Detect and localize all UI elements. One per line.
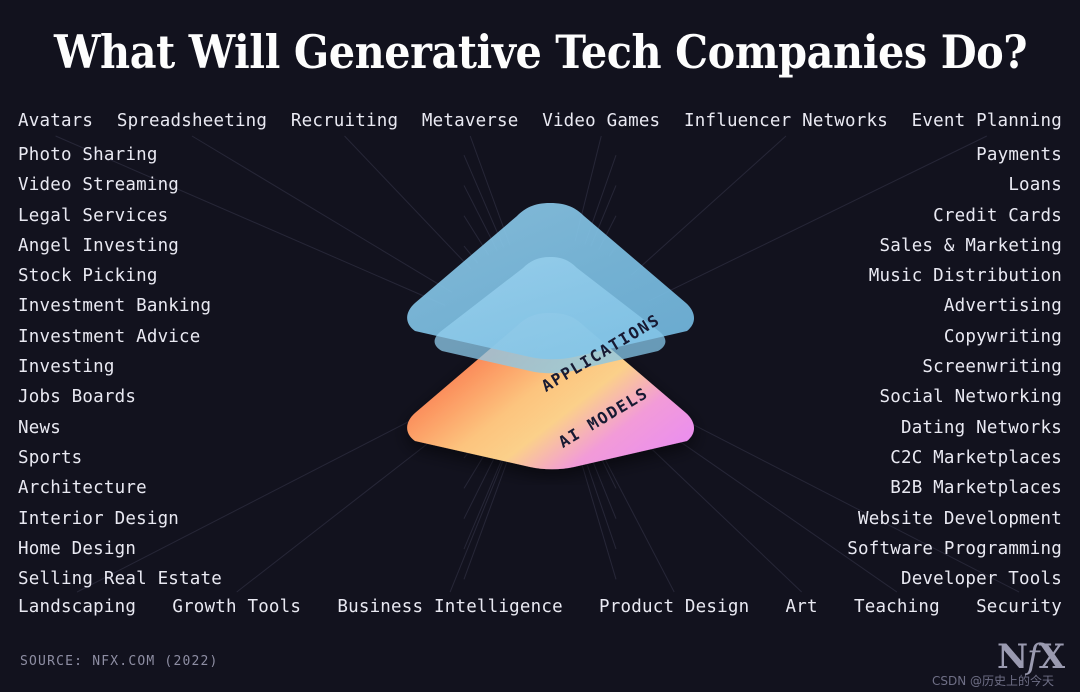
- right-label-0: Payments: [622, 140, 1062, 170]
- top-label-2: Recruiting: [291, 110, 398, 132]
- top-label-4: Video Games: [542, 110, 660, 132]
- bottom-label-row: LandscapingGrowth ToolsBusiness Intellig…: [0, 596, 1080, 618]
- bottom-label-2: Business Intelligence: [337, 596, 562, 618]
- top-label-5: Influencer Networks: [684, 110, 888, 132]
- top-label-6: Event Planning: [912, 110, 1062, 132]
- page-title: What Will Generative Tech Companies Do?: [54, 22, 1026, 82]
- logo-f: f: [1027, 637, 1039, 677]
- infographic-poster: What Will Generative Tech Companies Do? …: [0, 0, 1080, 692]
- isometric-stack-diagram: [360, 185, 740, 485]
- top-label-3: Metaverse: [422, 110, 519, 132]
- left-label-14: Selling Real Estate: [18, 564, 458, 594]
- bottom-label-5: Teaching: [854, 596, 940, 618]
- nfx-logo: NfX: [997, 640, 1064, 674]
- bottom-label-3: Product Design: [599, 596, 749, 618]
- bottom-label-6: Security: [976, 596, 1062, 618]
- top-label-row: AvatarsSpreadsheetingRecruitingMetaverse…: [0, 110, 1080, 132]
- left-label-13: Home Design: [18, 534, 458, 564]
- top-label-0: Avatars: [18, 110, 93, 132]
- right-label-12: Website Development: [622, 504, 1062, 534]
- top-label-1: Spreadsheeting: [117, 110, 267, 132]
- source-credit: SOURCE: NFX.COM (2022): [20, 654, 219, 669]
- left-label-0: Photo Sharing: [18, 140, 458, 170]
- csdn-watermark: CSDN @历史上的今天: [932, 672, 1054, 689]
- bottom-label-1: Growth Tools: [172, 596, 301, 618]
- right-label-13: Software Programming: [622, 534, 1062, 564]
- left-label-12: Interior Design: [18, 504, 458, 534]
- bottom-label-0: Landscaping: [18, 596, 136, 618]
- bottom-label-4: Art: [786, 596, 818, 618]
- right-label-14: Developer Tools: [622, 564, 1062, 594]
- logo-x: X: [1039, 637, 1064, 677]
- logo-n: N: [997, 637, 1027, 677]
